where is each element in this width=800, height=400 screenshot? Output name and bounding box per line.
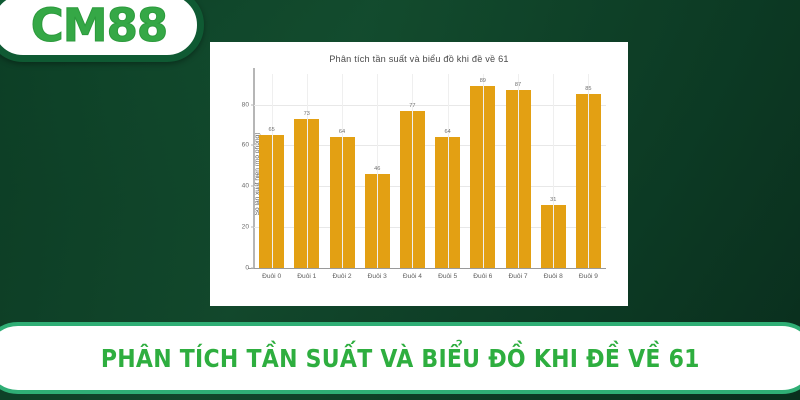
chart-x-tick-label: Đuôi 8 bbox=[544, 273, 563, 280]
chart-vertical-gridline bbox=[272, 74, 273, 268]
chart-title: Phân tích tần suất và biểu đồ khi đề về … bbox=[210, 54, 628, 64]
chart-x-tick-label: Đuôi 5 bbox=[438, 273, 457, 280]
chart-vertical-gridline bbox=[342, 74, 343, 268]
chart-x-tick-label: Đuôi 0 bbox=[262, 273, 281, 280]
chart-x-tick-label: Đuôi 7 bbox=[508, 273, 527, 280]
chart-bar-group: 87Đuôi 7 bbox=[500, 74, 535, 268]
chart-bar-value-label: 77 bbox=[409, 103, 415, 109]
chart-y-tick-label: 80 bbox=[242, 101, 249, 108]
chart-bar-value-label: 46 bbox=[374, 166, 380, 172]
chart-bar-value-label: 64 bbox=[339, 129, 345, 135]
chart-bar-group: 77Đuôi 4 bbox=[395, 74, 430, 268]
chart-bar-value-label: 87 bbox=[515, 82, 521, 88]
chart-vertical-gridline bbox=[518, 74, 519, 268]
chart-bar-value-label: 64 bbox=[444, 129, 450, 135]
chart-x-tick-label: Đuôi 3 bbox=[368, 273, 387, 280]
chart-vertical-gridline bbox=[448, 74, 449, 268]
chart-bar-group: 73Đuôi 1 bbox=[289, 74, 324, 268]
chart-bar-value-label: 89 bbox=[480, 78, 486, 84]
chart-bars: 65Đuôi 073Đuôi 164Đuôi 246Đuôi 377Đuôi 4… bbox=[254, 74, 606, 268]
chart-y-tick-label: 40 bbox=[242, 183, 249, 190]
chart-bar-group: 64Đuôi 5 bbox=[430, 74, 465, 268]
chart-y-tick-label: 60 bbox=[242, 142, 249, 149]
chart-bar-group: 64Đuôi 2 bbox=[324, 74, 359, 268]
chart-y-tick-label: 0 bbox=[245, 265, 249, 272]
chart-vertical-gridline bbox=[483, 74, 484, 268]
chart-vertical-gridline bbox=[553, 74, 554, 268]
chart-bar-group: 89Đuôi 6 bbox=[465, 74, 500, 268]
chart-bar-value-label: 85 bbox=[585, 86, 591, 92]
chart-x-tick-label: Đuôi 1 bbox=[297, 273, 316, 280]
chart-vertical-gridline bbox=[588, 74, 589, 268]
chart-bar-group: 65Đuôi 0 bbox=[254, 74, 289, 268]
chart-bar-group: 85Đuôi 9 bbox=[571, 74, 606, 268]
chart-x-tick-label: Đuôi 4 bbox=[403, 273, 422, 280]
chart-x-tick-label: Đuôi 9 bbox=[579, 273, 598, 280]
brand-logo-text: CM88 bbox=[23, 3, 167, 48]
chart-bar-value-label: 65 bbox=[268, 127, 274, 133]
chart-x-tick-label: Đuôi 2 bbox=[332, 273, 351, 280]
chart-bar-value-label: 31 bbox=[550, 197, 556, 203]
headline-banner-text: PHÂN TÍCH TẦN SUẤT VÀ BIỂU ĐỒ KHI ĐỀ VỀ … bbox=[101, 344, 700, 373]
brand-logo: CM88 bbox=[0, 0, 204, 62]
chart-x-tick-label: Đuôi 6 bbox=[473, 273, 492, 280]
chart-bar-value-label: 73 bbox=[304, 111, 310, 117]
chart-vertical-gridline bbox=[307, 74, 308, 268]
chart-card: Phân tích tần suất và biểu đồ khi đề về … bbox=[210, 42, 628, 306]
chart-bar-group: 31Đuôi 8 bbox=[536, 74, 571, 268]
chart-bar-group: 46Đuôi 3 bbox=[360, 74, 395, 268]
chart-plot-area: 020406080 65Đuôi 073Đuôi 164Đuôi 246Đuôi… bbox=[254, 74, 606, 268]
chart-y-tick-label: 20 bbox=[242, 224, 249, 231]
headline-banner: PHÂN TÍCH TẦN SUẤT VÀ BIỂU ĐỒ KHI ĐỀ VỀ … bbox=[0, 322, 800, 394]
